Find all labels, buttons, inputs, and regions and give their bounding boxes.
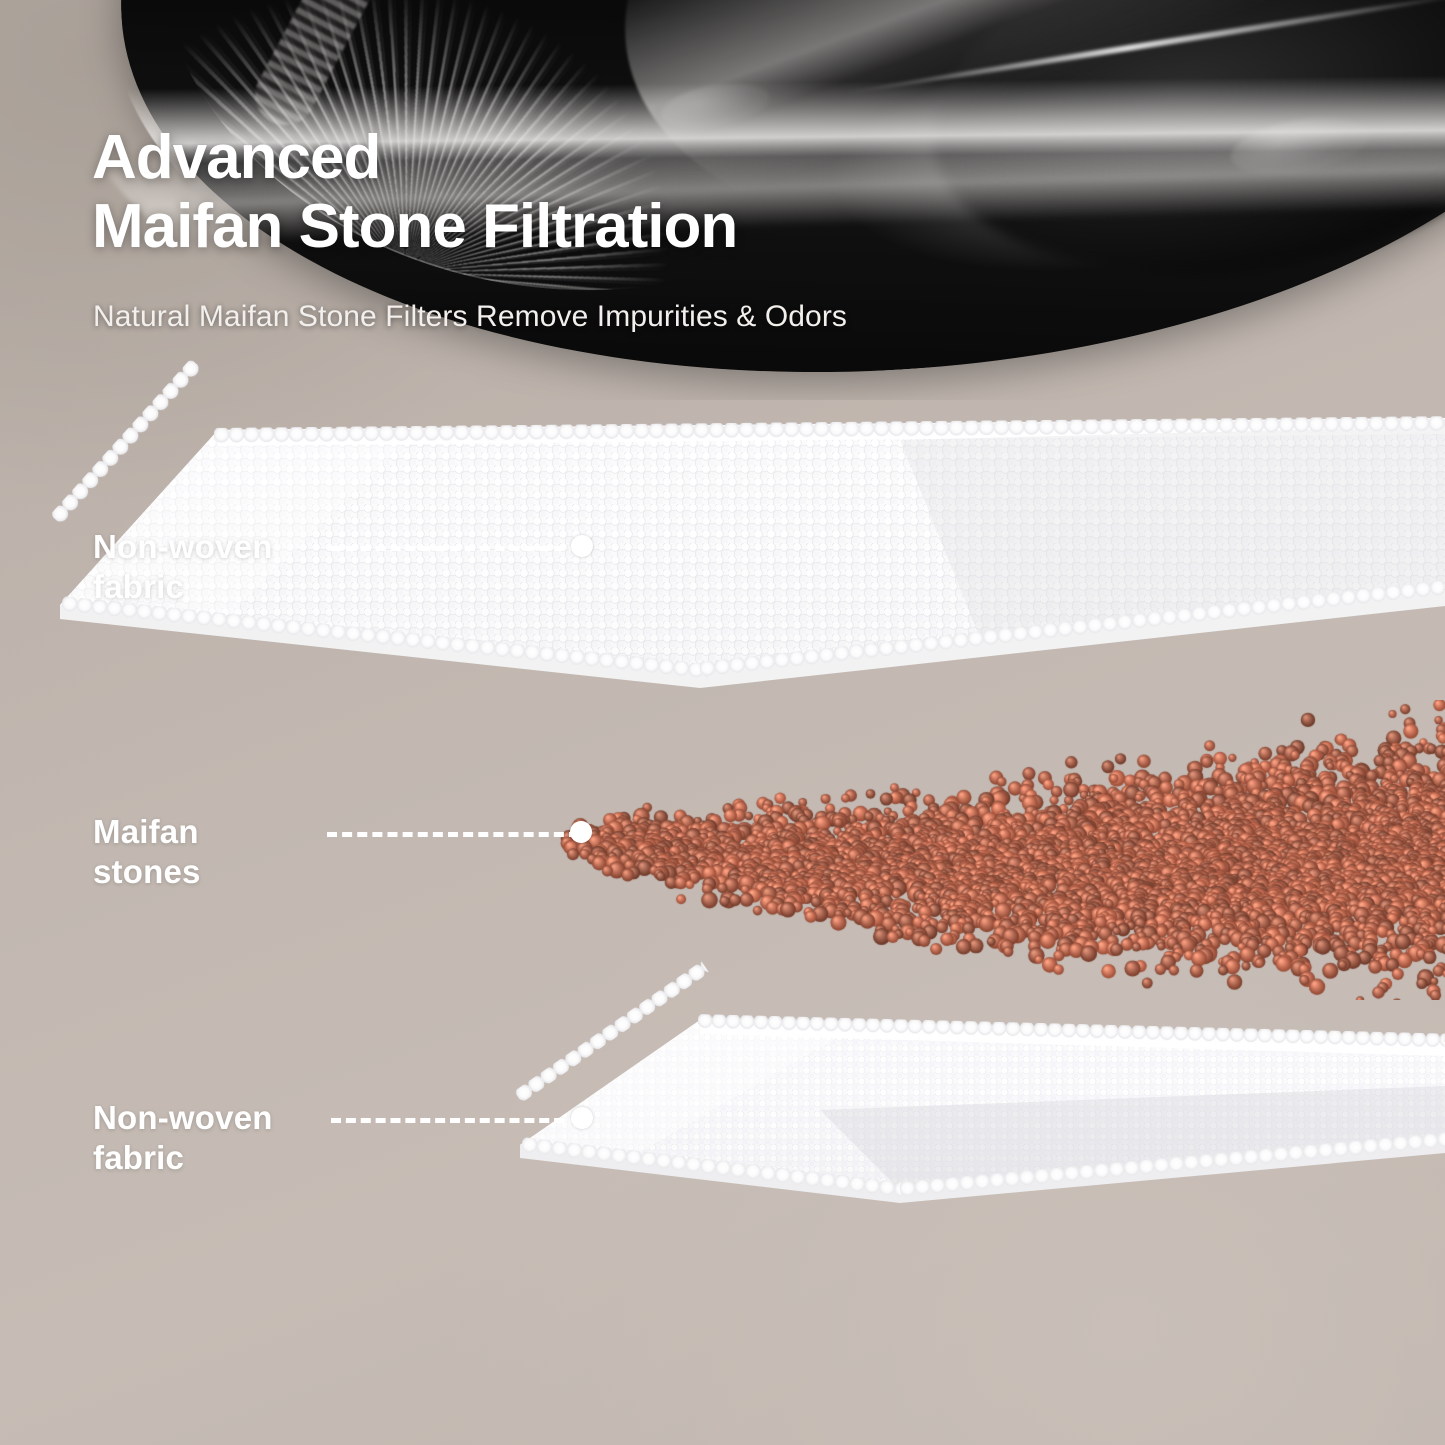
page-subtitle: Natural Maifan Stone Filters Remove Impu… xyxy=(93,300,847,334)
maifan-stone-granules xyxy=(460,700,1445,1000)
callout-label-top: Non-woven fabric xyxy=(93,527,273,608)
callout-label-bottom: Non-woven fabric xyxy=(93,1098,273,1179)
infographic-scene: Advanced Maifan Stone Filtration Natural… xyxy=(0,0,1445,1445)
callout-leader-bottom xyxy=(331,1118,579,1123)
callout-dot-top xyxy=(571,535,593,557)
callout-label-middle: Maifan stones xyxy=(93,812,201,893)
callout-leader-middle xyxy=(327,832,579,837)
callout-dot-middle xyxy=(570,821,592,843)
callout-leader-top xyxy=(331,546,579,551)
callout-dot-bottom xyxy=(571,1107,593,1129)
page-title: Advanced Maifan Stone Filtration xyxy=(92,123,737,262)
